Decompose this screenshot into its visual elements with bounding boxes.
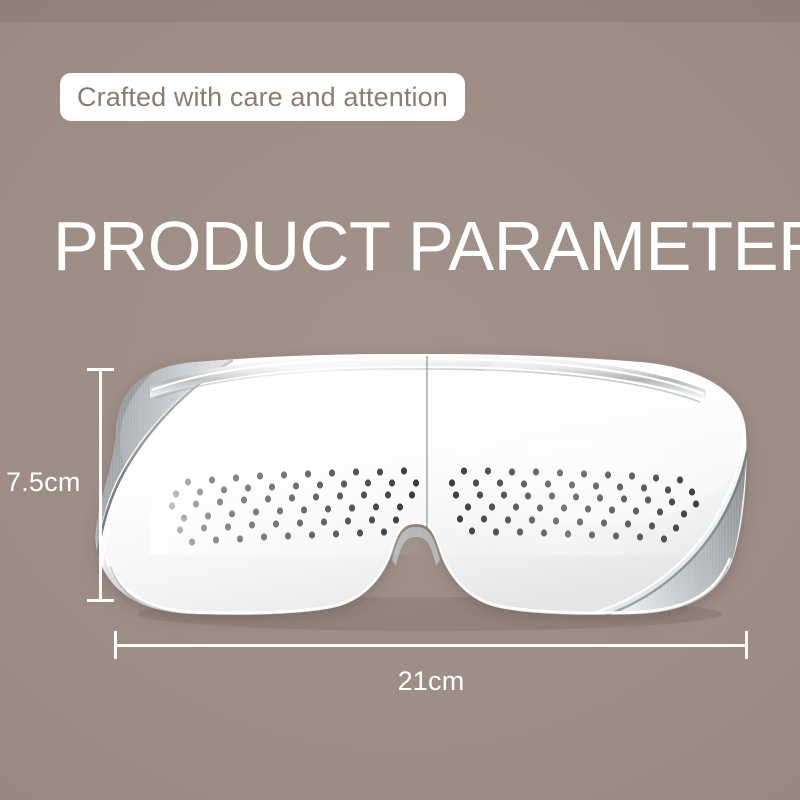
height-dimension-line — [99, 368, 102, 602]
tagline-badge: Crafted with care and attention — [60, 73, 465, 121]
height-dimension-label: 7.5cm — [6, 467, 81, 498]
width-dimension-label: 21cm — [0, 666, 800, 697]
page-title: PRODUCT PARAMETERS — [53, 210, 772, 282]
left-vent-grid — [150, 438, 432, 558]
product-parameters-banner: Crafted with care and attention PRODUCT … — [0, 0, 800, 800]
right-vent-grid — [432, 438, 724, 558]
tagline-text: Crafted with care and attention — [77, 82, 448, 113]
width-dimension-line — [114, 644, 748, 647]
